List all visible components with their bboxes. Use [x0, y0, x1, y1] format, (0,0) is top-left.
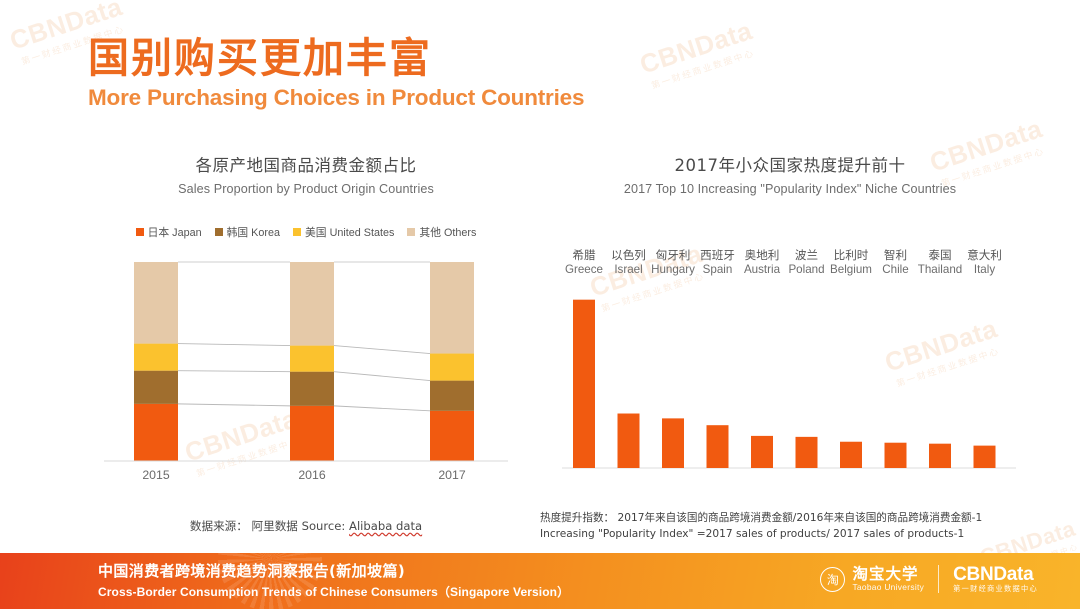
page-title-cn: 国别购买更加丰富 — [88, 36, 584, 80]
popularity-bar[interactable] — [796, 437, 818, 468]
left-chart-title-en: Sales Proportion by Product Origin Count… — [96, 182, 516, 196]
year-label: 2015 — [142, 468, 169, 482]
legend-item[interactable]: 其他 Others — [407, 224, 476, 240]
legend-item[interactable]: 韩国 Korea — [215, 224, 280, 240]
country-label: 智利Chile — [882, 248, 908, 278]
legend-label: 其他 Others — [419, 224, 476, 240]
stacked-bar-chart: 201520162017 — [96, 256, 516, 496]
popularity-bar[interactable] — [662, 418, 684, 468]
cbndata-logo: CBNData 第一财经商业数据中心 — [953, 565, 1038, 593]
left-chart-panel: 各原产地国商品消费金额占比 Sales Proportion by Produc… — [96, 152, 516, 496]
footer-title-en: Cross-Border Consumption Trends of Chine… — [98, 583, 569, 600]
slide-title-block: 国别购买更加丰富 More Purchasing Choices in Prod… — [88, 36, 584, 111]
legend-item[interactable]: 美国 United States — [293, 224, 394, 240]
country-label: 意大利Italy — [967, 248, 1002, 278]
slide-root: CBNData第一财经商业数据中心CBNData第一财经商业数据中心CBNDat… — [0, 0, 1080, 609]
country-label-cn: 以色列 — [611, 248, 646, 262]
stacked-bar-segment[interactable] — [430, 411, 474, 461]
country-label-row: 希腊Greece以色列Israel匈牙利Hungary西班牙Spain奥地利Au… — [554, 248, 1024, 282]
popularity-bar-svg — [554, 282, 1024, 478]
country-label-cn: 希腊 — [565, 248, 603, 262]
legend-swatch-icon — [215, 228, 223, 236]
stacked-bar-segment[interactable] — [290, 262, 334, 346]
stacked-bar-svg — [96, 256, 516, 496]
country-label-en: Greece — [565, 262, 603, 277]
year-label: 2016 — [298, 468, 325, 482]
legend-label: 美国 United States — [305, 224, 394, 240]
country-label-en: Poland — [788, 262, 824, 277]
country-label-cn: 智利 — [882, 248, 908, 262]
right-chart-title-en: 2017 Top 10 Increasing "Popularity Index… — [540, 182, 1040, 196]
stacked-bar-segment[interactable] — [430, 262, 474, 354]
popularity-bar[interactable] — [929, 444, 951, 468]
legend-swatch-icon — [293, 228, 301, 236]
stacked-bar-segment[interactable] — [134, 404, 178, 461]
legend-item[interactable]: 日本 Japan — [136, 224, 202, 240]
popularity-bar[interactable] — [974, 446, 996, 468]
right-note-cn: 热度提升指数： 2017年来自该国的商品跨境消费金额/2016年来自该国的商品跨… — [540, 510, 1060, 526]
taobao-logo-en: Taobao University — [852, 583, 924, 592]
country-label-cn: 西班牙 — [700, 248, 735, 262]
stacked-bar-segment[interactable] — [290, 372, 334, 406]
stacked-bar-segment[interactable] — [430, 354, 474, 381]
legend-label: 日本 Japan — [148, 224, 202, 240]
left-source-text: 数据来源： 阿里数据 Source: — [190, 519, 349, 533]
stacked-chart-x-axis-labels: 201520162017 — [96, 468, 516, 490]
country-label: 西班牙Spain — [700, 248, 735, 278]
country-label-en: Thailand — [918, 262, 962, 277]
country-label-cn: 波兰 — [788, 248, 824, 262]
stacked-bar-segment[interactable] — [134, 344, 178, 371]
cbndata-watermark: CBNData第一财经商业数据中心 — [636, 15, 760, 93]
country-label: 匈牙利Hungary — [651, 248, 695, 278]
popularity-bar[interactable] — [840, 442, 862, 468]
left-chart-legend: 日本 Japan韩国 Korea美国 United States其他 Other… — [96, 224, 516, 240]
popularity-bar[interactable] — [573, 300, 595, 468]
left-chart-source: 数据来源： 阿里数据 Source: Alibaba data — [96, 518, 516, 534]
left-chart-title-cn: 各原产地国商品消费金额占比 — [96, 152, 516, 176]
popularity-bar[interactable] — [618, 414, 640, 468]
country-label: 希腊Greece — [565, 248, 603, 278]
country-label-cn: 意大利 — [967, 248, 1002, 262]
footer-logo-group: 淘 淘宝大学 Taobao University CBNData 第一财经商业数… — [820, 565, 1038, 593]
cbndata-logo-main: CBNData — [953, 565, 1038, 585]
stacked-bar-segment[interactable] — [134, 262, 178, 344]
taobao-circle-icon: 淘 — [820, 567, 845, 592]
popularity-bar[interactable] — [885, 443, 907, 468]
country-label-en: Austria — [744, 262, 780, 277]
country-label: 以色列Israel — [611, 248, 646, 278]
country-label-cn: 匈牙利 — [651, 248, 695, 262]
stacked-bar-segment[interactable] — [430, 381, 474, 411]
country-label-cn: 奥地利 — [744, 248, 780, 262]
right-note-en: Increasing "Popularity Index" =2017 sale… — [540, 526, 1060, 542]
cbndata-logo-sub: 第一财经商业数据中心 — [953, 585, 1038, 593]
logo-divider — [938, 565, 939, 593]
country-label: 奥地利Austria — [744, 248, 780, 278]
stacked-bar-segment[interactable] — [290, 346, 334, 372]
slide-footer: 中国消费者跨境消费趋势洞察报告(新加坡篇) Cross-Border Consu… — [0, 553, 1080, 609]
stacked-bar-segment[interactable] — [290, 406, 334, 461]
country-label-en: Belgium — [830, 262, 872, 277]
popularity-bar[interactable] — [751, 436, 773, 468]
footer-text-block: 中国消费者跨境消费趋势洞察报告(新加坡篇) Cross-Border Consu… — [98, 562, 569, 600]
country-label-en: Italy — [967, 262, 1002, 277]
country-label: 比利时Belgium — [830, 248, 872, 278]
country-label-en: Chile — [882, 262, 908, 277]
year-label: 2017 — [438, 468, 465, 482]
country-label: 泰国Thailand — [918, 248, 962, 278]
left-source-link: Alibaba data — [349, 519, 422, 533]
country-label-en: Hungary — [651, 262, 695, 277]
page-title-en: More Purchasing Choices in Product Count… — [88, 85, 584, 111]
taobao-logo-text: 淘宝大学 Taobao University — [852, 566, 924, 592]
country-label-en: Israel — [611, 262, 646, 277]
right-chart-note: 热度提升指数： 2017年来自该国的商品跨境消费金额/2016年来自该国的商品跨… — [540, 510, 1060, 543]
country-label-en: Spain — [700, 262, 735, 277]
country-label-cn: 比利时 — [830, 248, 872, 262]
legend-label: 韩国 Korea — [227, 224, 280, 240]
footer-title-cn: 中国消费者跨境消费趋势洞察报告(新加坡篇) — [98, 562, 569, 581]
country-label-cn: 泰国 — [918, 248, 962, 262]
popularity-bar-chart — [554, 282, 1024, 478]
taobao-university-logo: 淘 淘宝大学 Taobao University — [820, 566, 924, 592]
taobao-logo-cn: 淘宝大学 — [852, 566, 924, 583]
stacked-bar-segment[interactable] — [134, 371, 178, 404]
right-chart-title-cn: 2017年小众国家热度提升前十 — [540, 152, 1040, 176]
legend-swatch-icon — [407, 228, 415, 236]
right-chart-panel: 2017年小众国家热度提升前十 2017 Top 10 Increasing "… — [540, 152, 1040, 478]
legend-swatch-icon — [136, 228, 144, 236]
country-label: 波兰Poland — [788, 248, 824, 278]
popularity-bar[interactable] — [707, 425, 729, 468]
